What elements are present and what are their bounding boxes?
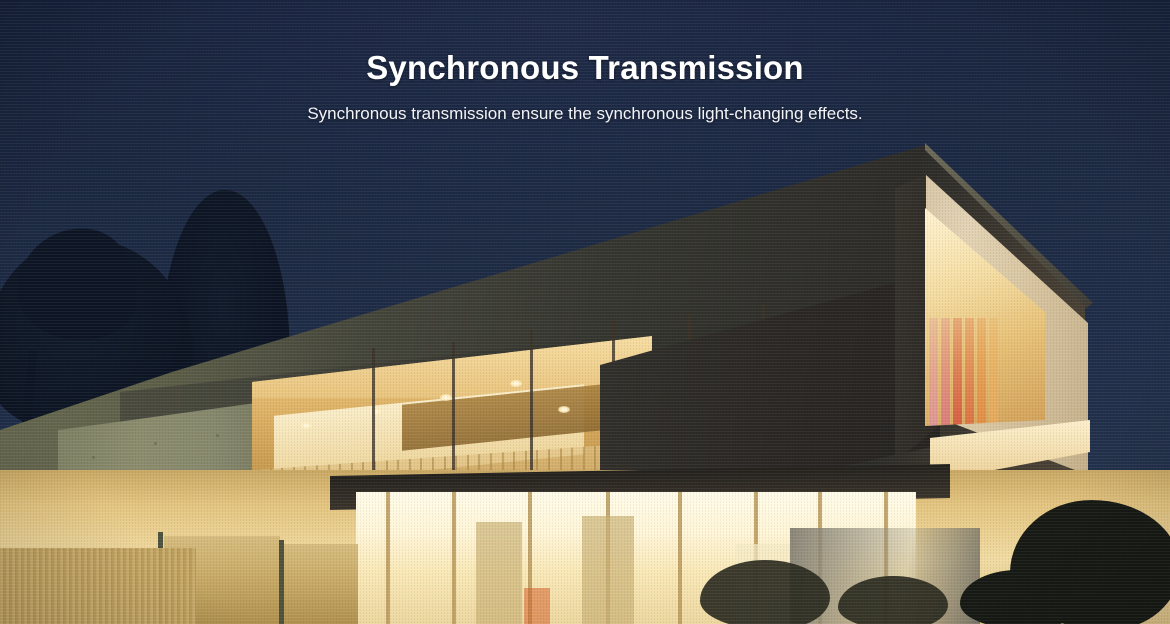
colored-glass-strip <box>965 318 974 438</box>
downlight <box>510 380 522 387</box>
form-tie-dot <box>216 434 219 437</box>
hero-banner: Synchronous Transmission Synchronous tra… <box>0 0 1170 624</box>
form-tie-dot <box>92 456 95 459</box>
panel-joint <box>279 540 284 624</box>
ground-floor-mullion <box>678 492 682 624</box>
interior-panel <box>582 516 634 624</box>
wooden-fence <box>0 548 196 624</box>
colored-glass-strip <box>941 318 950 438</box>
page-subtitle: Synchronous transmission ensure the sync… <box>0 102 1170 126</box>
hero-text-block: Synchronous Transmission Synchronous tra… <box>0 46 1170 126</box>
ground-floor-mullion <box>386 492 390 624</box>
downlight <box>558 406 570 413</box>
colored-glass-strip <box>977 318 986 438</box>
colored-glass-strip <box>953 318 962 438</box>
downlight <box>440 394 452 401</box>
concrete-panel <box>284 544 358 624</box>
interior-warm-object <box>524 588 550 624</box>
colored-glass-strip <box>929 318 938 438</box>
page-title: Synchronous Transmission <box>0 46 1170 90</box>
interior-door <box>476 522 522 624</box>
colored-glass-strip <box>989 318 998 438</box>
ground-floor-mullion <box>452 492 456 624</box>
window-mullion <box>530 330 533 482</box>
form-tie-dot <box>154 442 157 445</box>
downlight <box>300 422 312 429</box>
